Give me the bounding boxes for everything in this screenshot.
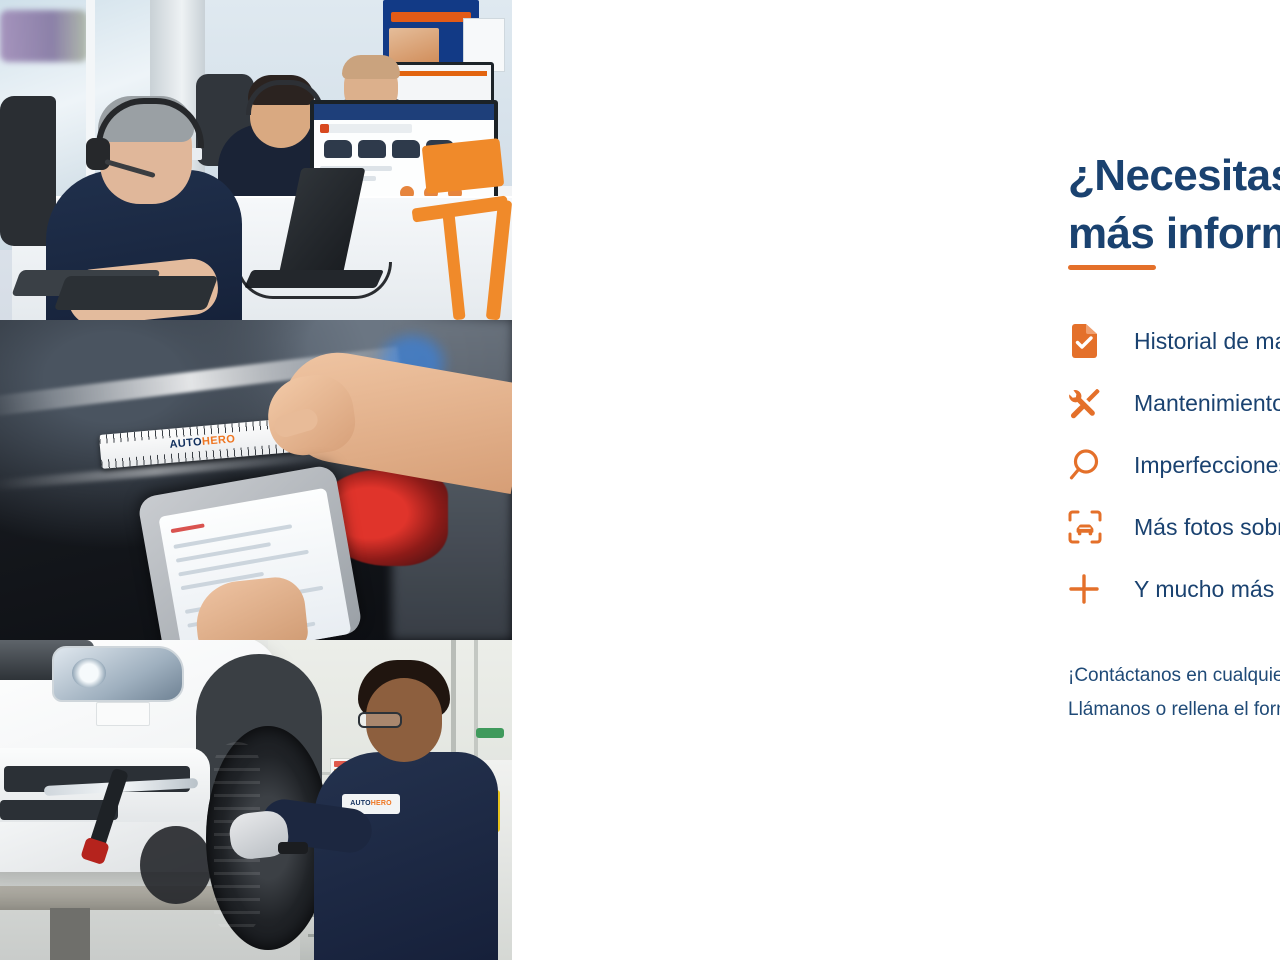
feature-label: Imperfecciones [1114, 450, 1280, 480]
magnifier-icon [1068, 448, 1114, 482]
page-title: ¿Necesitas más información? [1068, 147, 1280, 263]
brake-disc [140, 826, 212, 904]
patch-logo-auto: AUTO [350, 800, 371, 807]
feature-label: Más fotos sobre el coche [1114, 512, 1280, 542]
feature-item-mas: Y mucho más [1068, 558, 1280, 620]
workshop-technician: AUTOHERO [308, 654, 498, 960]
desk-cable [236, 262, 392, 299]
ruler-logo-hero: HERO [201, 433, 235, 448]
feature-label: Y mucho más [1114, 574, 1274, 604]
promo-page: AUTOHERO [0, 0, 1280, 960]
feature-label: Mantenimiento realizado [1114, 388, 1280, 418]
contact-text: ¡Contáctanos en cualquier momento para m… [1068, 659, 1280, 727]
workshop-tire-photo: AUTOHERO [0, 640, 512, 960]
feature-item-fotos: Más fotos sobre el coche [1068, 496, 1280, 558]
window-treeline [0, 10, 88, 62]
tools-icon [1068, 386, 1114, 420]
desk-tablet [54, 276, 218, 310]
feature-item-historial: Historial de mantenimientos [1068, 310, 1280, 372]
license-plate-area [96, 702, 150, 726]
car-headlight [52, 646, 184, 702]
feature-list: Historial de mantenimientos Mantenimient… [1068, 310, 1280, 620]
document-check-icon [1068, 324, 1114, 358]
title-underline-rule [1068, 265, 1156, 270]
orange-chair [408, 130, 512, 320]
feature-item-mantenimiento: Mantenimiento realizado [1068, 372, 1280, 434]
plus-icon [1068, 573, 1114, 605]
car-lift-leg [50, 908, 90, 960]
ruler-logo-auto: AUTO [169, 436, 203, 451]
content-panel: ¿Necesitas más información? Historial de… [512, 0, 1280, 960]
photo-column: AUTOHERO [0, 0, 512, 960]
car-inspection-ruler-photo: AUTOHERO [0, 320, 512, 640]
feature-item-imperfecciones: Imperfecciones [1068, 434, 1280, 496]
feature-label: Historial de mantenimientos [1114, 326, 1280, 356]
car-photo-icon [1068, 510, 1114, 544]
patch-logo-hero: HERO [371, 800, 392, 807]
call-center-agents-photo [0, 0, 512, 320]
